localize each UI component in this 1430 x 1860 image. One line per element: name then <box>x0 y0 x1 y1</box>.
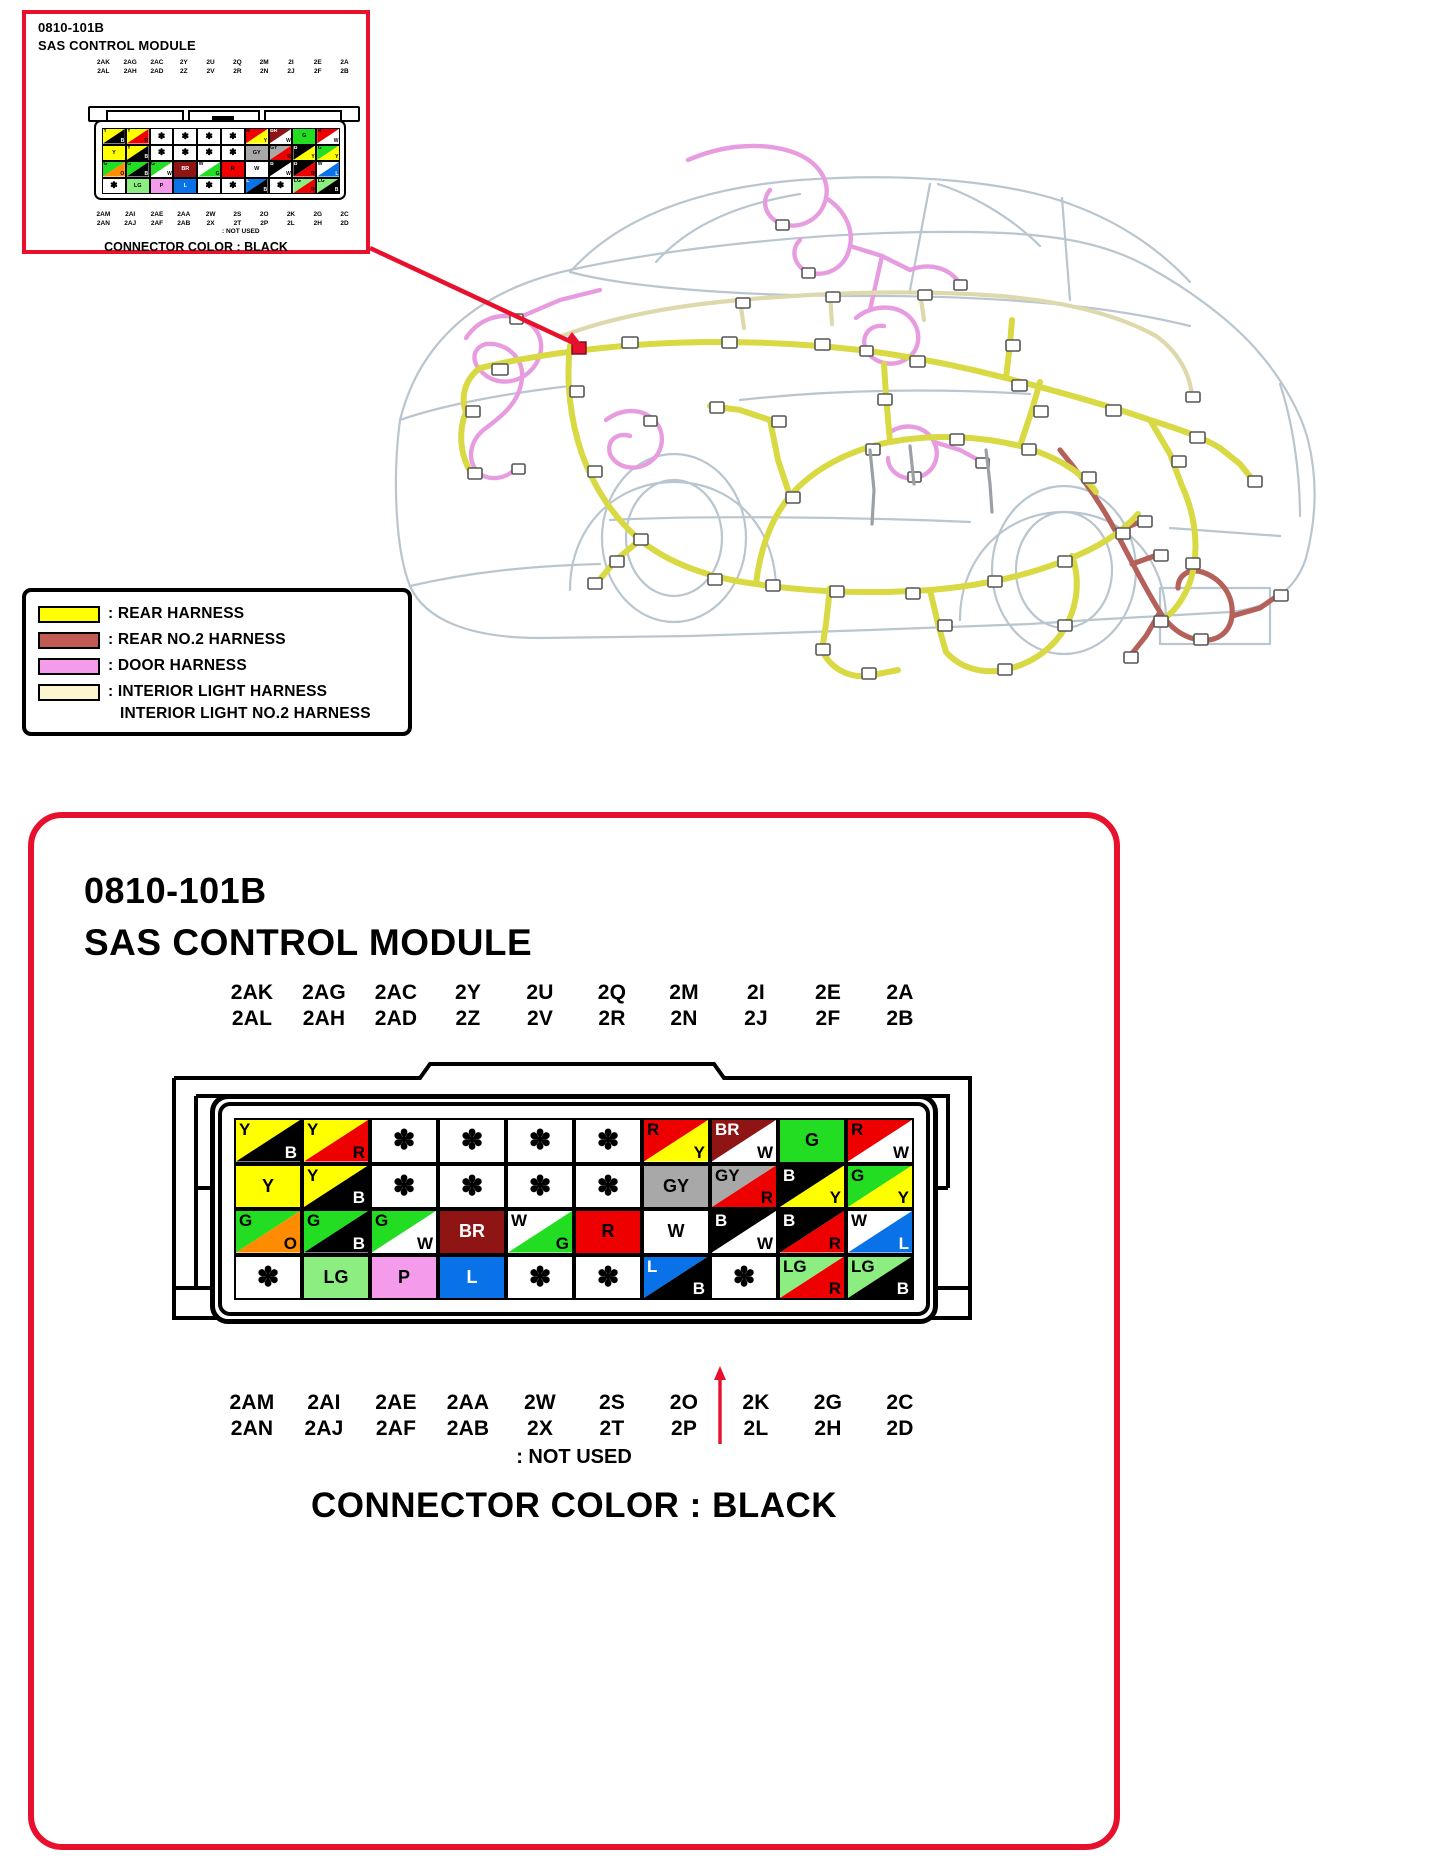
vehicle-harness-illustration <box>270 120 1410 740</box>
callout-pin-label-bot-b-8: 2L <box>278 219 305 228</box>
panel-pin-label-bot-b-8: 2L <box>720 1416 792 1442</box>
callout-pin-label-bot-b-4: 2AB <box>170 219 197 228</box>
wire-color-code-secondary: B <box>144 171 148 178</box>
panel-pin-label-bot-b-1: 2AN <box>216 1416 288 1442</box>
panel-pin-label-top-b-6: 2R <box>576 1006 648 1032</box>
panel-top-label-row-2: 2AL2AH2AD2Z2V2R2N2J2F2B <box>216 1006 936 1032</box>
panel-pin-label-top-b-9: 2F <box>792 1006 864 1032</box>
wire-color-code: GY <box>644 1166 708 1208</box>
panel-pin-r3c5: WG <box>506 1209 574 1255</box>
legend-label-4: : INTERIOR LIGHT HARNESS <box>108 683 327 701</box>
wire-color-code-secondary: B <box>897 1279 909 1298</box>
callout-target-marker <box>572 342 586 354</box>
wire-color-code-primary: W <box>318 161 323 168</box>
callout-pin-label-bot-a-6: 2S <box>224 210 251 219</box>
panel-pin-r2c3: ✽ <box>370 1164 438 1210</box>
callout-top-pin-labels: 2AK2AG2AC2Y2U2Q2M2I2E2A 2AL2AH2AD2Z2V2R2… <box>90 58 358 76</box>
panel-pin-r4c7: LB <box>642 1255 710 1301</box>
legend-label-2: : REAR NO.2 HARNESS <box>108 631 286 649</box>
callout-pin-label-top-a-7: 2M <box>251 58 278 67</box>
not-used-star-icon: ✽ <box>508 1120 572 1162</box>
callout-pin-r2c3: ✽ <box>150 145 174 162</box>
wire-color-code-secondary: W <box>286 138 291 145</box>
panel-pin-label-bot-b-4: 2AB <box>432 1416 504 1442</box>
wire-color-code-primary: Y <box>104 128 107 135</box>
callout-top-label-row-1: 2AK2AG2AC2Y2U2Q2M2I2E2A <box>90 58 358 67</box>
callout-pin-r2c2: YB <box>126 145 150 162</box>
callout-pin-r2c10: GY <box>316 145 340 162</box>
callout-pin-r4c10: LGB <box>316 178 340 195</box>
legend-item-3: : DOOR HARNESS <box>38 653 408 679</box>
panel-connector-id: 0810-101B <box>84 870 267 912</box>
callout-top-label-row-2: 2AL2AH2AD2Z2V2R2N2J2F2B <box>90 67 358 76</box>
callout-pin-r4c1: ✽ <box>102 178 126 195</box>
wire-color-code: Y <box>236 1166 300 1208</box>
wire-color-code-primary: B <box>270 161 274 168</box>
callout-pin-label-bot-b-10: 2D <box>331 219 358 228</box>
panel-pin-label-top-b-1: 2AL <box>216 1006 288 1032</box>
wire-color-code-secondary: B <box>353 1234 365 1253</box>
callout-pin-r3c7: W <box>245 161 269 178</box>
wire-color-code-secondary: Y <box>335 154 338 161</box>
panel-pin-r1c7: RY <box>642 1118 710 1164</box>
legend-swatch-2 <box>38 632 100 649</box>
callout-pin-label-bot-b-9: 2H <box>304 219 331 228</box>
panel-pin-label-bot-a-2: 2AI <box>288 1390 360 1416</box>
callout-not-used-note: : NOT USED <box>222 228 260 235</box>
wire-color-code: P <box>151 179 173 194</box>
callout-pin-label-bot-b-5: 2X <box>197 219 224 228</box>
callout-pin-r4c3: P <box>150 178 174 195</box>
callout-pin-label-top-a-8: 2I <box>278 58 305 67</box>
wire-color-code-secondary: Y <box>264 138 267 145</box>
wire-color-code-secondary: R <box>144 138 148 145</box>
panel-connector-name: SAS CONTROL MODULE <box>84 922 532 964</box>
wire-color-code-secondary: R <box>287 154 291 161</box>
wire-color-code-primary: W <box>851 1211 867 1230</box>
callout-pin-r4c8: ✽ <box>269 178 293 195</box>
callout-pin-label-bot-a-3: 2AE <box>144 210 171 219</box>
panel-pin-grid: YBYR✽✽✽✽RYBRWGRWYYB✽✽✽✽GYGYRBYGYGOGBGWBR… <box>234 1118 914 1300</box>
callout-bottom-pin-labels: 2AM2AI2AE2AA2W2S2O2K2G2C 2AN2AJ2AF2AB2X2… <box>90 210 358 228</box>
panel-pin-label-bot-a-4: 2AA <box>432 1390 504 1416</box>
wire-color-code-secondary: O <box>284 1234 297 1253</box>
wire-color-code: L <box>174 179 196 194</box>
wire-color-code-secondary: R <box>311 171 315 178</box>
callout-pin-r3c1: GO <box>102 161 126 178</box>
wire-color-code-primary: L <box>246 178 249 185</box>
panel-pin-r2c4: ✽ <box>438 1164 506 1210</box>
wire-color-code-primary: Y <box>307 1166 318 1185</box>
wire-color-code-primary: BR <box>270 128 277 135</box>
not-used-star-icon: ✽ <box>151 146 173 161</box>
callout-pin-label-bot-b-6: 2T <box>224 219 251 228</box>
not-used-star-icon: ✽ <box>222 179 244 194</box>
panel-pin-r2c7: GY <box>642 1164 710 1210</box>
panel-pin-r4c9: LGR <box>778 1255 846 1301</box>
wire-color-code-primary: Y <box>307 1120 318 1139</box>
callout-pin-label-bot-b-1: 2AN <box>90 219 117 228</box>
wire-color-code: P <box>372 1257 436 1299</box>
not-used-star-icon: ✽ <box>198 146 220 161</box>
wire-color-code-secondary: Y <box>694 1143 705 1162</box>
panel-bottom-label-row-1: 2AM2AI2AE2AA2W2S2O2K2G2C <box>216 1390 936 1416</box>
callout-pin-r2c6: ✽ <box>221 145 245 162</box>
not-used-star-icon: ✽ <box>576 1166 640 1208</box>
panel-pin-label-bot-b-7: 2P <box>648 1416 720 1442</box>
wire-color-code-primary: G <box>104 161 108 168</box>
callout-connector-color: CONNECTOR COLOR : BLACK <box>26 240 366 254</box>
panel-pin-r4c10: LGB <box>846 1255 914 1301</box>
wire-color-code: GY <box>246 146 268 161</box>
callout-pin-label-bot-b-7: 2P <box>251 219 278 228</box>
panel-pin-label-bot-a-6: 2S <box>576 1390 648 1416</box>
legend-swatch-4 <box>38 684 100 701</box>
not-used-star-icon: ✽ <box>174 146 196 161</box>
wire-color-code-secondary: W <box>417 1234 433 1253</box>
wire-color-code: W <box>246 162 268 177</box>
callout-pin-label-top-a-6: 2Q <box>224 58 251 67</box>
panel-pin-r4c4: L <box>438 1255 506 1301</box>
legend-rows: : REAR HARNESS: REAR NO.2 HARNESS: DOOR … <box>26 592 408 705</box>
wire-color-code-secondary: W <box>286 171 291 178</box>
wire-color-code-primary: LG <box>318 178 325 185</box>
panel-pin-r2c1: Y <box>234 1164 302 1210</box>
wire-color-code-secondary: B <box>263 187 267 194</box>
panel-pin-r2c6: ✽ <box>574 1164 642 1210</box>
wire-color-code-primary: R <box>246 128 250 135</box>
legend-item-2: : REAR NO.2 HARNESS <box>38 627 408 653</box>
panel-pin-r4c6: ✽ <box>574 1255 642 1301</box>
not-used-star-icon: ✽ <box>576 1257 640 1299</box>
panel-top-label-row-1: 2AK2AG2AC2Y2U2Q2M2I2E2A <box>216 980 936 1006</box>
not-used-star-icon: ✽ <box>236 1257 300 1299</box>
wire-color-code-primary: B <box>783 1211 795 1230</box>
callout-connector-name: SAS CONTROL MODULE <box>38 38 196 53</box>
panel-pin-r3c8: BW <box>710 1209 778 1255</box>
wire-color-code-primary: G <box>307 1211 320 1230</box>
callout-pin-r2c9: BY <box>292 145 316 162</box>
panel-pin-label-bot-b-3: 2AF <box>360 1416 432 1442</box>
callout-pin-r1c8: BRW <box>269 128 293 145</box>
wire-color-code-secondary: Y <box>830 1188 841 1207</box>
panel-pin-label-bot-a-1: 2AM <box>216 1390 288 1416</box>
wire-color-code-primary: R <box>851 1120 863 1139</box>
panel-pin-r1c8: BRW <box>710 1118 778 1164</box>
wire-color-code-secondary: W <box>167 171 172 178</box>
wire-color-code-primary: Y <box>127 128 130 135</box>
panel-pin-r1c10: RW <box>846 1118 914 1164</box>
callout-pin-label-top-a-4: 2Y <box>170 58 197 67</box>
callout-pin-label-top-b-5: 2V <box>197 67 224 76</box>
wire-color-code-secondary: R <box>761 1188 773 1207</box>
panel-pin-r1c9: G <box>778 1118 846 1164</box>
wire-color-code-primary: LG <box>294 178 301 185</box>
callout-pin-label-bot-a-5: 2W <box>197 210 224 219</box>
panel-pin-label-top-b-5: 2V <box>504 1006 576 1032</box>
callout-pin-label-top-a-5: 2U <box>197 58 224 67</box>
panel-pin-label-top-b-7: 2N <box>648 1006 720 1032</box>
panel-pin-label-bot-b-6: 2T <box>576 1416 648 1442</box>
panel-pin-label-top-a-6: 2Q <box>576 980 648 1006</box>
panel-pin-r4c2: LG <box>302 1255 370 1301</box>
wire-color-code-primary: GY <box>270 145 277 152</box>
panel-pin-label-top-a-8: 2I <box>720 980 792 1006</box>
wire-color-code-secondary: R <box>829 1279 841 1298</box>
legend-label-1: : REAR HARNESS <box>108 605 244 623</box>
callout-pin-label-top-a-2: 2AG <box>117 58 144 67</box>
panel-pin-label-top-a-4: 2Y <box>432 980 504 1006</box>
wire-color-code-primary: R <box>318 128 322 135</box>
wire-color-code: W <box>644 1211 708 1253</box>
legend-continuation-label: INTERIOR LIGHT NO.2 HARNESS <box>120 705 408 723</box>
callout-pin-label-bot-a-4: 2AA <box>170 210 197 219</box>
panel-pin-label-bot-a-5: 2W <box>504 1390 576 1416</box>
callout-connector-shell: YBYR✽✽✽✽RYBRWGRWYYB✽✽✽✽GYGYRBYGYGOGBGWBR… <box>88 106 360 208</box>
wire-color-code-secondary: B <box>353 1188 365 1207</box>
panel-pin-r2c10: GY <box>846 1164 914 1210</box>
wire-color-code-primary: BR <box>715 1120 740 1139</box>
panel-pin-label-bot-b-9: 2H <box>792 1416 864 1442</box>
not-used-star-icon: ✽ <box>372 1166 436 1208</box>
panel-pin-r4c8: ✽ <box>710 1255 778 1301</box>
callout-pin-r3c5: WG <box>197 161 221 178</box>
wire-color-code-primary: G <box>127 161 131 168</box>
panel-pin-r3c4: BR <box>438 1209 506 1255</box>
wire-color-code-secondary: L <box>899 1234 909 1253</box>
not-used-star-icon: ✽ <box>151 129 173 144</box>
callout-pin-label-top-b-2: 2AH <box>117 67 144 76</box>
not-used-star-icon: ✽ <box>440 1120 504 1162</box>
wire-color-code: LG <box>127 179 149 194</box>
callout-pin-r1c1: YB <box>102 128 126 145</box>
callout-pin-label-top-a-1: 2AK <box>90 58 117 67</box>
panel-not-used-note: : NOT USED <box>34 1446 1114 1469</box>
not-used-star-icon: ✽ <box>372 1120 436 1162</box>
wire-color-code-primary: R <box>647 1120 659 1139</box>
wire-color-code-secondary: B <box>693 1279 705 1298</box>
wire-color-code-secondary: R <box>353 1143 365 1162</box>
not-used-star-icon: ✽ <box>174 129 196 144</box>
panel-pin-label-top-b-10: 2B <box>864 1006 936 1032</box>
panel-pin-label-top-a-5: 2U <box>504 980 576 1006</box>
panel-pin-label-bot-a-9: 2G <box>792 1390 864 1416</box>
wire-color-code-secondary: B <box>121 138 125 145</box>
not-used-star-icon: ✽ <box>508 1166 572 1208</box>
wire-color-code: L <box>440 1257 504 1299</box>
callout-pin-r4c6: ✽ <box>221 178 245 195</box>
wire-color-code-primary: Y <box>239 1120 250 1139</box>
callout-pin-r2c1: Y <box>102 145 126 162</box>
callout-pin-r3c3: GW <box>150 161 174 178</box>
panel-pin-r3c6: R <box>574 1209 642 1255</box>
callout-pin-label-top-b-7: 2N <box>251 67 278 76</box>
wire-color-code-secondary: R <box>829 1234 841 1253</box>
panel-pin-r4c5: ✽ <box>506 1255 574 1301</box>
wire-color-code: LG <box>304 1257 368 1299</box>
legend-swatch-3 <box>38 658 100 675</box>
callout-pin-label-top-b-4: 2Z <box>170 67 197 76</box>
wire-color-code-secondary: Y <box>898 1188 909 1207</box>
wire-color-code-secondary: G <box>216 171 220 178</box>
legend-item-1: : REAR HARNESS <box>38 601 408 627</box>
callout-pin-r1c4: ✽ <box>173 128 197 145</box>
callout-pin-r3c9: BR <box>292 161 316 178</box>
panel-pin-label-top-a-3: 2AC <box>360 980 432 1006</box>
legend-label-3: : DOOR HARNESS <box>108 657 247 675</box>
harness-legend: : REAR HARNESS: REAR NO.2 HARNESS: DOOR … <box>22 588 412 736</box>
panel-pin-label-bot-a-7: 2O <box>648 1390 720 1416</box>
callout-pin-r1c10: RW <box>316 128 340 145</box>
panel-pin-r3c9: BR <box>778 1209 846 1255</box>
panel-pin-label-bot-a-3: 2AE <box>360 1390 432 1416</box>
wire-color-code-secondary: R <box>311 187 315 194</box>
callout-pin-r2c7: GY <box>245 145 269 162</box>
wire-color-code-primary: G <box>318 145 322 152</box>
callout-pin-r1c7: RY <box>245 128 269 145</box>
panel-pin-label-bot-b-2: 2AJ <box>288 1416 360 1442</box>
callout-pin-r2c8: GYR <box>269 145 293 162</box>
wire-color-code: G <box>293 129 315 144</box>
wire-color-code-primary: W <box>511 1211 527 1230</box>
callout-pin-label-top-a-9: 2E <box>304 58 331 67</box>
callout-pin-r4c9: LGR <box>292 178 316 195</box>
callout-pin-r1c6: ✽ <box>221 128 245 145</box>
panel-pin-r1c3: ✽ <box>370 1118 438 1164</box>
wire-color-code-secondary: G <box>556 1234 569 1253</box>
panel-pin-label-bot-a-8: 2K <box>720 1390 792 1416</box>
wire-color-code-secondary: B <box>285 1143 297 1162</box>
callout-pin-label-top-b-8: 2J <box>278 67 305 76</box>
wire-color-code-secondary: W <box>334 138 339 145</box>
callout-pin-r1c2: YR <box>126 128 150 145</box>
panel-pin-r3c2: GB <box>302 1209 370 1255</box>
wire-color-code-primary: B <box>294 161 298 168</box>
wire-color-code-primary: W <box>199 161 204 168</box>
callout-pin-grid: YBYR✽✽✽✽RYBRWGRWYYB✽✽✽✽GYGYRBYGYGOGBGWBR… <box>102 128 340 194</box>
callout-pin-label-top-b-9: 2F <box>304 67 331 76</box>
panel-pin-r2c5: ✽ <box>506 1164 574 1210</box>
callout-connector-id: 0810-101B <box>38 20 104 35</box>
wire-color-code-secondary: B <box>144 154 148 161</box>
panel-pin-r4c3: P <box>370 1255 438 1301</box>
callout-pin-label-bot-b-3: 2AF <box>144 219 171 228</box>
wire-color-code: R <box>576 1211 640 1253</box>
wire-color-code-primary: LG <box>783 1257 807 1276</box>
callout-pin-label-bot-a-10: 2C <box>331 210 358 219</box>
panel-pin-r1c5: ✽ <box>506 1118 574 1164</box>
top-callout-box: 0810-101B SAS CONTROL MODULE 2AK2AG2AC2Y… <box>22 10 370 254</box>
callout-pin-label-top-a-3: 2AC <box>144 58 171 67</box>
panel-pin-r3c1: GO <box>234 1209 302 1255</box>
panel-pin-r2c9: BY <box>778 1164 846 1210</box>
callout-pin-label-top-b-3: 2AD <box>144 67 171 76</box>
not-used-star-icon: ✽ <box>508 1257 572 1299</box>
panel-pin-r1c2: YR <box>302 1118 370 1164</box>
panel-pin-r3c10: WL <box>846 1209 914 1255</box>
not-used-star-icon: ✽ <box>222 146 244 161</box>
panel-top-pin-labels: 2AK2AG2AC2Y2U2Q2M2I2E2A 2AL2AH2AD2Z2V2R2… <box>216 980 936 1032</box>
wire-color-code-primary: LG <box>851 1257 875 1276</box>
panel-pin-label-top-a-2: 2AG <box>288 980 360 1006</box>
wire-color-code-secondary: W <box>757 1234 773 1253</box>
callout-pin-r3c4: BR <box>173 161 197 178</box>
not-used-star-icon: ✽ <box>198 129 220 144</box>
panel-connector-shell: YBYR✽✽✽✽RYBRWGRWYYB✽✽✽✽GYGYRBYGYGOGBGWBR… <box>162 1038 982 1378</box>
panel-connector-color: CONNECTOR COLOR : BLACK <box>34 1486 1114 1526</box>
callout-pin-r4c7: LB <box>245 178 269 195</box>
not-used-star-icon: ✽ <box>712 1257 776 1299</box>
callout-pin-r4c5: ✽ <box>197 178 221 195</box>
panel-pin-label-top-a-7: 2M <box>648 980 720 1006</box>
wire-color-code: BR <box>440 1211 504 1253</box>
not-used-star-icon: ✽ <box>198 179 220 194</box>
wire-color-code-primary: G <box>375 1211 388 1230</box>
callout-pin-r3c8: BW <box>269 161 293 178</box>
wire-color-code-primary: L <box>647 1257 657 1276</box>
callout-pin-r2c5: ✽ <box>197 145 221 162</box>
wire-color-code-primary: B <box>294 145 298 152</box>
panel-pin-label-top-a-10: 2A <box>864 980 936 1006</box>
callout-pin-r3c2: GB <box>126 161 150 178</box>
panel-pin-label-top-b-2: 2AH <box>288 1006 360 1032</box>
callout-pin-label-bot-b-2: 2AJ <box>117 219 144 228</box>
wire-color-code-primary: G <box>239 1211 252 1230</box>
callout-pin-r1c5: ✽ <box>197 128 221 145</box>
wire-color-code-secondary: L <box>335 171 338 178</box>
wire-color-code-primary: Y <box>127 145 130 152</box>
panel-pin-label-top-a-1: 2AK <box>216 980 288 1006</box>
wire-color-code-secondary: O <box>120 171 124 178</box>
wire-color-code-primary: G <box>151 161 155 168</box>
wire-color-code-secondary: W <box>757 1143 773 1162</box>
wire-color-code: BR <box>174 162 196 177</box>
callout-bottom-label-row-2: 2AN2AJ2AF2AB2X2T2P2L2H2D <box>90 219 358 228</box>
not-used-star-icon: ✽ <box>270 179 292 194</box>
panel-bottom-label-row-2: 2AN2AJ2AF2AB2X2T2P2L2H2D <box>216 1416 936 1442</box>
panel-pin-r1c6: ✽ <box>574 1118 642 1164</box>
callout-pin-label-top-a-10: 2A <box>331 58 358 67</box>
callout-pin-r4c2: LG <box>126 178 150 195</box>
callout-pin-label-bot-a-7: 2O <box>251 210 278 219</box>
panel-pin-r1c4: ✽ <box>438 1118 506 1164</box>
callout-pin-label-bot-a-1: 2AM <box>90 210 117 219</box>
wire-color-code-secondary: Y <box>311 154 314 161</box>
panel-pin-label-top-b-8: 2J <box>720 1006 792 1032</box>
wire-color-code-primary: B <box>715 1211 727 1230</box>
main-connector-panel: 0810-101B SAS CONTROL MODULE 2AK2AG2AC2Y… <box>28 812 1120 1850</box>
callout-pin-label-top-b-10: 2B <box>331 67 358 76</box>
panel-pin-label-top-b-3: 2AD <box>360 1006 432 1032</box>
callout-pin-label-bot-a-8: 2K <box>278 210 305 219</box>
callout-pin-r2c4: ✽ <box>173 145 197 162</box>
callout-pin-r4c4: L <box>173 178 197 195</box>
wire-color-code: G <box>780 1120 844 1162</box>
callout-pin-label-top-b-1: 2AL <box>90 67 117 76</box>
panel-pin-label-bot-b-10: 2D <box>864 1416 936 1442</box>
panel-pin-r2c8: GYR <box>710 1164 778 1210</box>
not-used-star-icon: ✽ <box>103 179 125 194</box>
panel-pin-label-bot-a-10: 2C <box>864 1390 936 1416</box>
callout-pin-r3c6: R <box>221 161 245 178</box>
callout-pin-r3c10: WL <box>316 161 340 178</box>
not-used-star-icon: ✽ <box>440 1166 504 1208</box>
panel-pin-r4c1: ✽ <box>234 1255 302 1301</box>
legend-item-4: : INTERIOR LIGHT HARNESS <box>38 679 408 705</box>
callout-pin-r1c3: ✽ <box>150 128 174 145</box>
wire-color-code: Y <box>103 146 125 161</box>
wire-color-code-secondary: W <box>893 1143 909 1162</box>
